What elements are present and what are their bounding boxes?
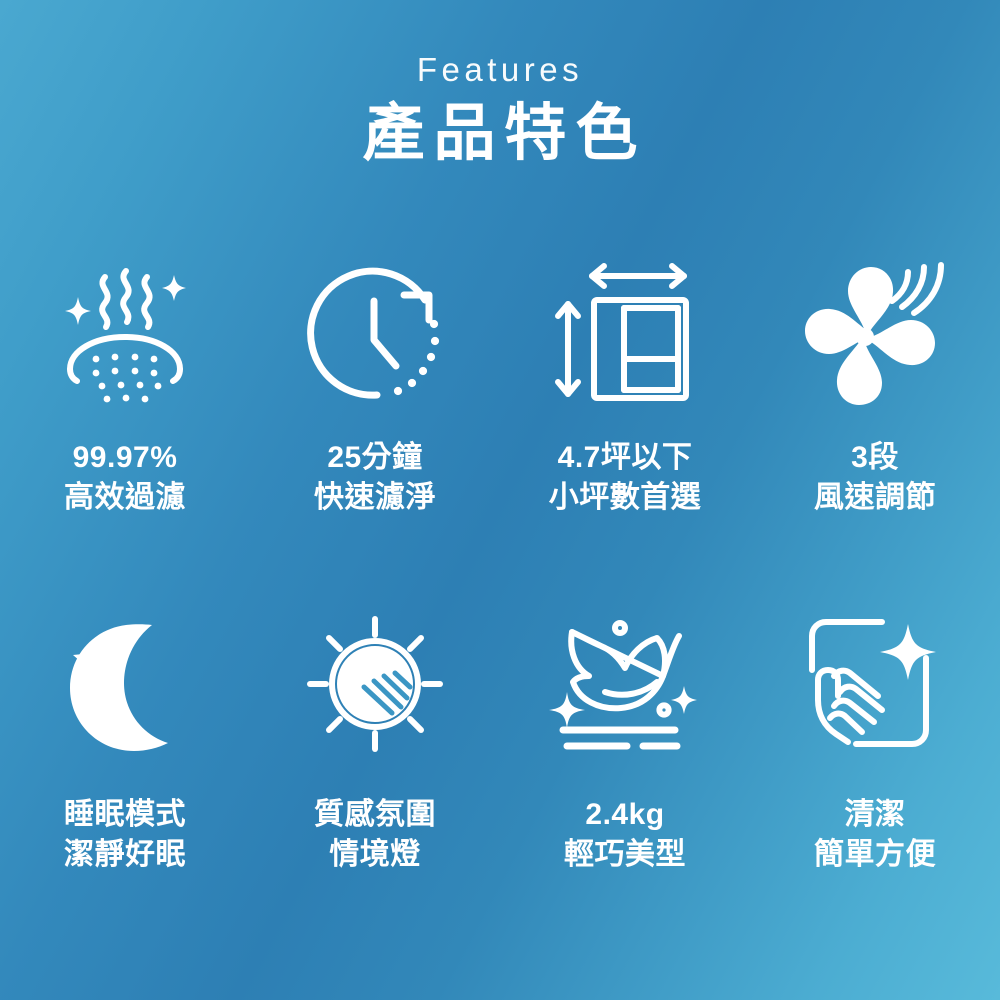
hand-wipe-clean-icon: [795, 609, 955, 759]
page-title: 產品特色: [0, 98, 1000, 169]
feature-labels: 睡眠模式 潔靜好眠: [64, 795, 186, 874]
brightness-ambient-light-icon: [295, 609, 455, 759]
feature-primary-label: 睡眠模式: [64, 795, 186, 835]
feature-row: 睡眠模式 潔靜好眠: [0, 609, 1000, 874]
fan-speed-icon: [795, 258, 955, 408]
feature-labels: 3段 風速調節: [814, 438, 936, 517]
feature-item: 4.7坪以下 小坪數首選: [500, 258, 750, 517]
feature-grid: 99.97% 高效過濾: [0, 258, 1000, 874]
feature-labels: 質感氛圍 情境燈: [314, 795, 436, 874]
feature-secondary-label: 情境燈: [314, 835, 436, 875]
feature-item: 99.97% 高效過濾: [0, 258, 250, 517]
feature-labels: 清潔 簡單方便: [814, 795, 936, 874]
feature-labels: 25分鐘 快速濾淨: [314, 438, 436, 517]
feature-primary-label: 25分鐘: [314, 438, 436, 478]
feature-secondary-label: 輕巧美型: [564, 835, 686, 875]
feature-secondary-label: 高效過濾: [64, 478, 186, 518]
feature-labels: 4.7坪以下 小坪數首選: [549, 438, 702, 517]
feature-labels: 2.4kg 輕巧美型: [564, 795, 686, 874]
room-floorplan-size-icon: [545, 258, 705, 408]
feather-lightweight-icon: [545, 609, 705, 759]
feature-primary-label: 質感氛圍: [314, 795, 436, 835]
feature-primary-label: 3段: [814, 438, 936, 478]
air-purify-filter-icon: [45, 258, 205, 408]
feature-secondary-label: 小坪數首選: [549, 478, 702, 518]
feature-primary-label: 2.4kg: [564, 795, 686, 835]
feature-row: 99.97% 高效過濾: [0, 258, 1000, 517]
feature-primary-label: 清潔: [814, 795, 936, 835]
brightness-cell: 質感氛圍 情境燈: [250, 609, 500, 874]
feature-item: 睡眠模式 潔靜好眠: [0, 609, 250, 874]
feature-primary-label: 4.7坪以下: [549, 438, 702, 478]
feature-item: 清潔 簡單方便: [750, 609, 1000, 874]
feature-primary-label: 99.97%: [64, 438, 186, 478]
moon-star-sleep-icon: [45, 609, 205, 759]
feature-secondary-label: 快速濾淨: [314, 478, 436, 518]
feature-secondary-label: 簡單方便: [814, 835, 936, 875]
feature-secondary-label: 潔靜好眠: [64, 835, 186, 875]
clock-fast-timer-icon: [295, 258, 455, 408]
feature-labels: 99.97% 高效過濾: [64, 438, 186, 517]
feature-item: 3段 風速調節: [750, 258, 1000, 517]
feature-item: 2.4kg 輕巧美型: [500, 609, 750, 874]
header: Features 產品特色: [0, 52, 1000, 170]
eyebrow-text: Features: [0, 52, 1000, 88]
feature-infographic: Features 產品特色: [0, 0, 1000, 1000]
feature-secondary-label: 風速調節: [814, 478, 936, 518]
feature-item: 25分鐘 快速濾淨: [250, 258, 500, 517]
